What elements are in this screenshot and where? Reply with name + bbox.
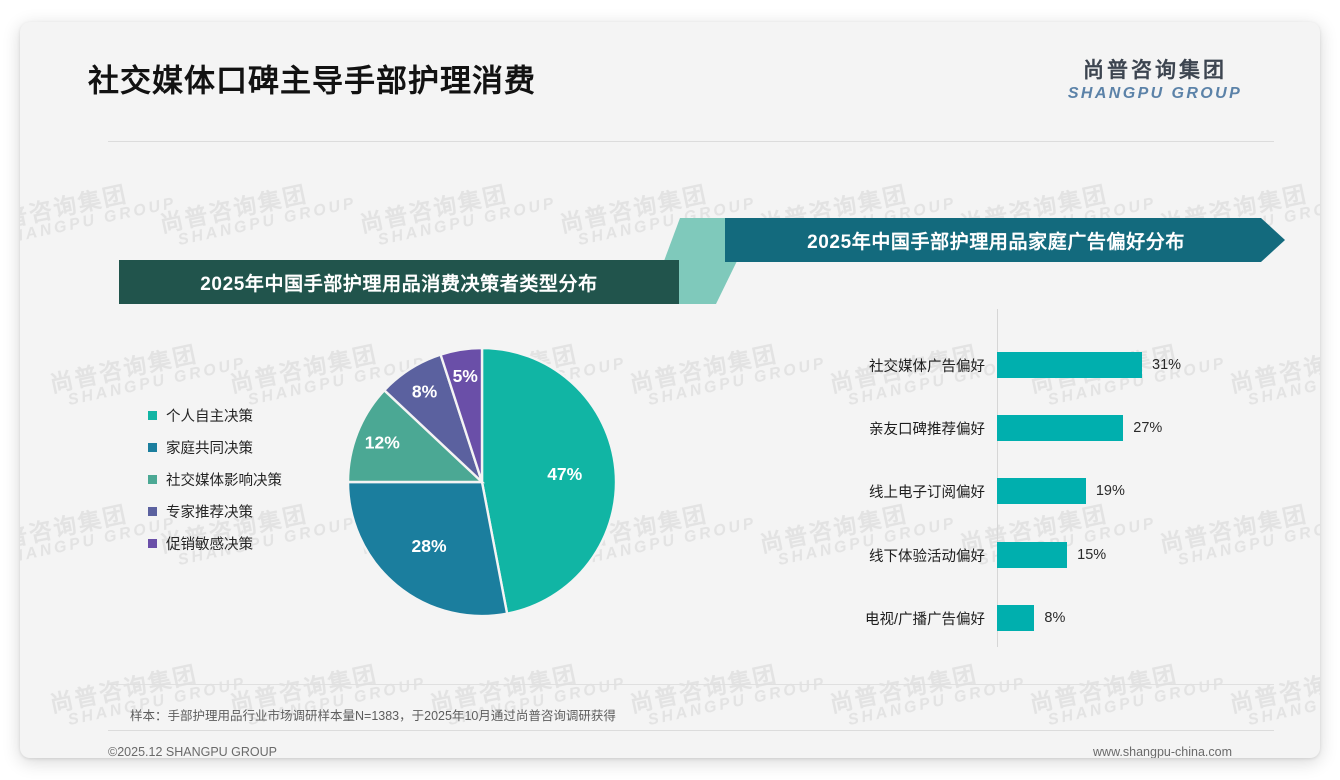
pie-slice-label: 8% xyxy=(412,381,438,401)
bar-fill[interactable] xyxy=(997,352,1142,378)
watermark-tile: 尚普咨询集团SHANGPU GROUP xyxy=(1028,652,1228,733)
brand-name-cn: 尚普咨询集团 xyxy=(1050,58,1260,84)
slide-header: 社交媒体口碑主导手部护理消费 尚普咨询集团 SHANGPU GROUP xyxy=(20,22,1320,120)
bar-track: 27% xyxy=(997,415,1280,441)
banner-right: 2025年中国手部护理用品家庭广告偏好分布 xyxy=(725,218,1285,262)
brand-name-en: SHANGPU GROUP xyxy=(1050,84,1260,105)
pie-slice-label: 12% xyxy=(365,433,400,453)
watermark-tile: 尚普咨询集团SHANGPU GROUP xyxy=(1228,652,1320,733)
watermark-text-cn: 尚普咨询集团 xyxy=(158,172,355,236)
bar-value-label: 27% xyxy=(1133,420,1162,436)
page-title: 社交媒体口碑主导手部护理消费 xyxy=(88,56,536,101)
bar-chart-panel: 社交媒体广告偏好31%亲友口碑推荐偏好27%线上电子订阅偏好19%线下体验活动偏… xyxy=(720,302,1280,652)
pie-legend-label: 促销敏感决策 xyxy=(166,533,253,554)
banner-left-title: 2025年中国手部护理用品消费决策者类型分布 xyxy=(200,269,597,296)
pie-slice-label: 47% xyxy=(547,464,582,484)
pie-slice-label: 5% xyxy=(453,366,479,386)
bar-chart-row[interactable]: 线上电子订阅偏好19% xyxy=(720,478,1280,504)
bar-chart-row[interactable]: 电视/广播广告偏好8% xyxy=(720,605,1280,631)
bar-category-label: 电视/广播广告偏好 xyxy=(720,608,997,629)
bar-category-label: 线上电子订阅偏好 xyxy=(720,481,997,502)
footnote-divider xyxy=(108,684,1274,685)
watermark-text-cn: 尚普咨询集团 xyxy=(20,172,175,236)
bar-chart-row[interactable]: 亲友口碑推荐偏好27% xyxy=(720,415,1280,441)
pie-legend-item[interactable]: 家庭共同决策 xyxy=(148,438,338,456)
banner-left: 2025年中国手部护理用品消费决策者类型分布 xyxy=(119,260,679,304)
title-divider xyxy=(108,141,1274,142)
pie-legend: 个人自主决策家庭共同决策社交媒体影响决策专家推荐决策促销敏感决策 xyxy=(148,406,338,566)
banner-right-title: 2025年中国手部护理用品家庭广告偏好分布 xyxy=(807,227,1185,254)
watermark-text-cn: 尚普咨询集团 xyxy=(358,172,555,236)
bar-chart-row[interactable]: 线下体验活动偏好15% xyxy=(720,542,1280,568)
bar-track: 31% xyxy=(997,352,1280,378)
pie-slice-label: 28% xyxy=(412,536,447,556)
bar-track: 15% xyxy=(997,542,1280,568)
footer-divider xyxy=(108,730,1274,731)
pie-legend-item[interactable]: 促销敏感决策 xyxy=(148,534,338,552)
legend-swatch-icon xyxy=(148,507,157,516)
bar-fill[interactable] xyxy=(997,415,1123,441)
legend-swatch-icon xyxy=(148,475,157,484)
footer-website[interactable]: www.shangpu-china.com xyxy=(1093,745,1232,758)
pie-legend-item[interactable]: 个人自主决策 xyxy=(148,406,338,424)
pie-chart: 47%28%12%8%5% xyxy=(332,332,632,632)
sample-footnote: 样本：手部护理用品行业市场调研样本量N=1383，于2025年10月通过尚普咨询… xyxy=(130,705,616,724)
bar-category-label: 亲友口碑推荐偏好 xyxy=(720,418,997,439)
bar-value-label: 8% xyxy=(1044,610,1065,626)
pie-chart-panel: 个人自主决策家庭共同决策社交媒体影响决策专家推荐决策促销敏感决策 47%28%1… xyxy=(110,322,670,652)
watermark-text-en: SHANGPU GROUP xyxy=(377,196,559,250)
bar-category-label: 社交媒体广告偏好 xyxy=(720,355,997,376)
bar-value-label: 15% xyxy=(1077,547,1106,563)
bar-category-label: 线下体验活动偏好 xyxy=(720,545,997,566)
bar-chart-row[interactable]: 社交媒体广告偏好31% xyxy=(720,352,1280,378)
bar-track: 8% xyxy=(997,605,1280,631)
pie-legend-label: 专家推荐决策 xyxy=(166,501,253,522)
pie-legend-item[interactable]: 专家推荐决策 xyxy=(148,502,338,520)
legend-swatch-icon xyxy=(148,539,157,548)
pie-legend-label: 家庭共同决策 xyxy=(166,437,253,458)
legend-swatch-icon xyxy=(148,443,157,452)
watermark-text-en: SHANGPU GROUP xyxy=(177,196,359,250)
footer-copyright: ©2025.12 SHANGPU GROUP xyxy=(108,745,277,758)
bar-value-label: 31% xyxy=(1152,357,1181,373)
pie-legend-label: 个人自主决策 xyxy=(166,405,253,426)
watermark-tile: 尚普咨询集团SHANGPU GROUP xyxy=(828,652,1028,733)
watermark-tile: 尚普咨询集团SHANGPU GROUP xyxy=(158,172,358,253)
pie-legend-label: 社交媒体影响决策 xyxy=(166,469,282,490)
brand-logo: 尚普咨询集团 SHANGPU GROUP xyxy=(1050,58,1260,105)
pie-legend-item[interactable]: 社交媒体影响决策 xyxy=(148,470,338,488)
watermark-text-en: SHANGPU GROUP xyxy=(20,196,178,250)
legend-swatch-icon xyxy=(148,411,157,420)
watermark-tile: 尚普咨询集团SHANGPU GROUP xyxy=(358,172,558,253)
slide-canvas: 尚普咨询集团SHANGPU GROUP尚普咨询集团SHANGPU GROUP尚普… xyxy=(20,22,1320,758)
watermark-tile: 尚普咨询集团SHANGPU GROUP xyxy=(628,652,828,733)
bar-fill[interactable] xyxy=(997,478,1086,504)
watermark-tile: 尚普咨询集团SHANGPU GROUP xyxy=(20,172,178,253)
bar-fill[interactable] xyxy=(997,542,1067,568)
bar-track: 19% xyxy=(997,478,1280,504)
bar-fill[interactable] xyxy=(997,605,1034,631)
bar-value-label: 19% xyxy=(1096,483,1125,499)
